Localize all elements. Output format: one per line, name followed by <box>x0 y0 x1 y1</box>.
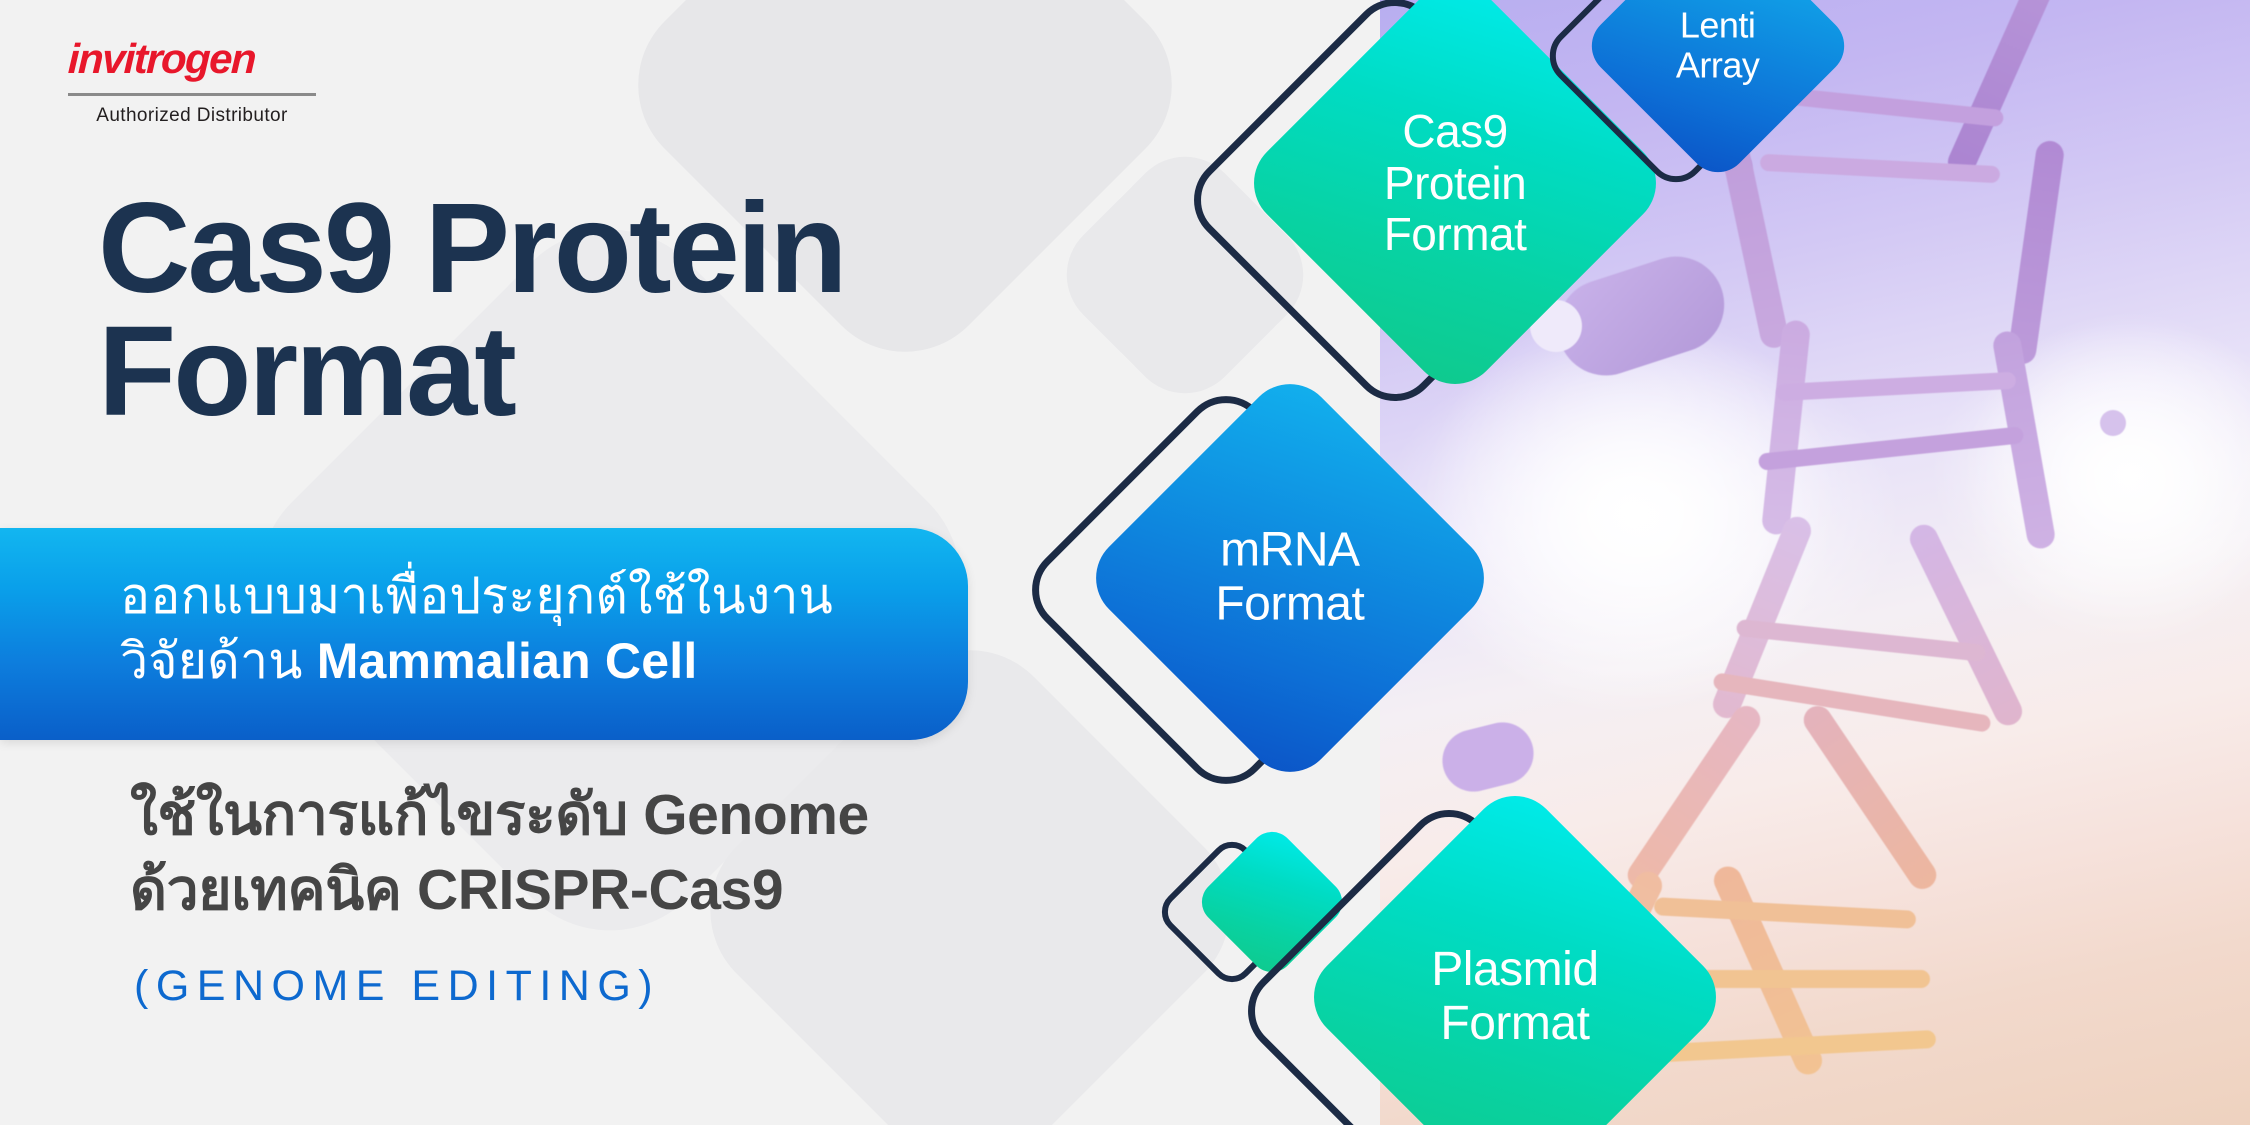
cas9-protein-format-card-label: Cas9 Protein Format <box>1384 106 1527 261</box>
logo-wordmark: invitrogen <box>67 38 318 80</box>
blue-banner-line-2: วิจัยด้าน Mammalian Cell <box>120 629 833 694</box>
plasmid-format-card-label: Plasmid Format <box>1431 943 1598 1051</box>
subtext-line-1: ใช้ในการแก้ไขระดับ Genome <box>130 778 869 853</box>
genome-editing-caption: (GENOME EDITING) <box>134 962 660 1011</box>
invitrogen-logo: invitrogen Authorized Distributor <box>68 38 318 127</box>
subtext-block: ใช้ในการแก้ไขระดับ Genome ด้วยเทคนิค CRI… <box>130 778 869 928</box>
headline-line-1: Cas9 Protein <box>98 177 845 320</box>
blue-banner-line-2-bold: Mammalian Cell <box>317 633 698 689</box>
lenti-array-card-label: Lenti Array <box>1676 6 1760 87</box>
blue-banner-line-1: ออกแบบมาเพื่อประยุกต์ใช้ในงาน <box>120 564 833 629</box>
promotional-banner: invitrogen Authorized Distributor Cas9 P… <box>0 0 2250 1125</box>
mrna-format-card-label: mRNA Format <box>1215 524 1364 631</box>
logo-divider <box>68 93 316 96</box>
subtext-line-2: ด้วยเทคนิค CRISPR-Cas9 <box>130 853 869 928</box>
blue-highlight-banner: ออกแบบมาเพื่อประยุกต์ใช้ในงาน วิจัยด้าน … <box>0 528 968 740</box>
logo-subtitle: Authorized Distributor <box>68 105 316 127</box>
blue-banner-text: ออกแบบมาเพื่อประยุกต์ใช้ในงาน วิจัยด้าน … <box>120 564 833 694</box>
page-title: Cas9 Protein Format <box>98 188 845 434</box>
blue-banner-line-2-prefix: วิจัยด้าน <box>120 633 317 689</box>
headline-line-2: Format <box>98 311 845 434</box>
